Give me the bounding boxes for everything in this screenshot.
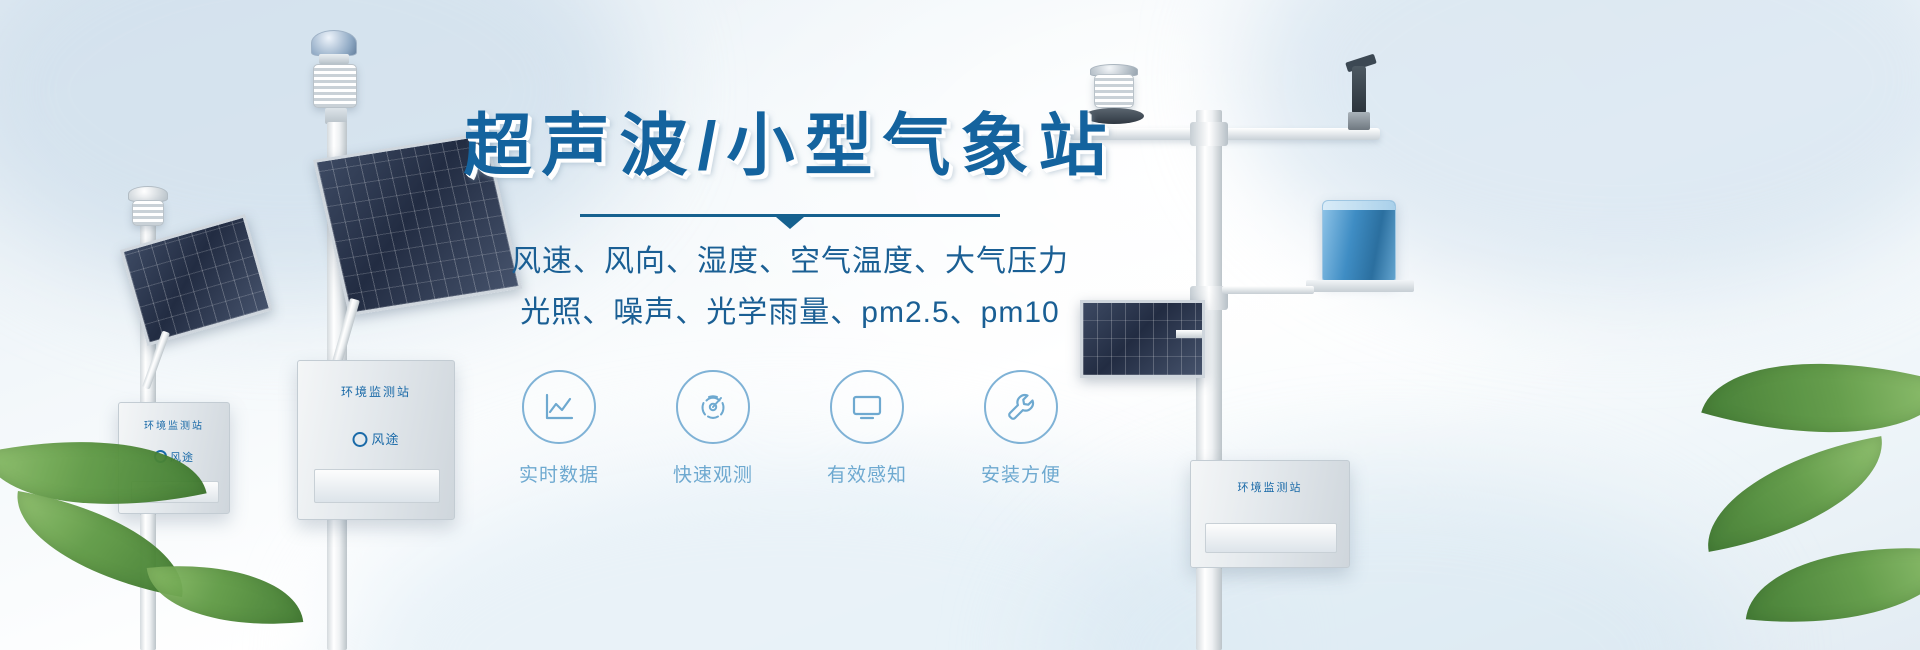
wrench-icon xyxy=(984,370,1058,444)
radar-observation-icon xyxy=(676,370,750,444)
monitor-icon xyxy=(830,370,904,444)
cabinet-label: 环境监测站 xyxy=(341,383,411,400)
rain-gauge xyxy=(1322,200,1396,282)
cabinet-vent xyxy=(1205,523,1337,553)
feature-label: 快速观测 xyxy=(657,460,769,487)
subtitle-line-2: 光照、噪声、光学雨量、pm2.5、pm10 xyxy=(440,290,1140,337)
radiation-shield xyxy=(313,64,357,108)
feature-item-realtime-data[interactable]: 实时数据 xyxy=(503,370,615,487)
ultrasonic-dome-sensor xyxy=(311,30,357,56)
shelf-arm xyxy=(1222,286,1314,294)
cabinet-vent xyxy=(314,469,440,503)
feature-item-easy-installation[interactable]: 安装方便 xyxy=(965,370,1077,487)
feature-item-fast-observation[interactable]: 快速观测 xyxy=(657,370,769,487)
leaf-decoration xyxy=(1701,320,1920,476)
subtitle-line-1: 风速、风向、湿度、空气温度、大气压力 xyxy=(440,239,1140,286)
rain-gauge-shelf xyxy=(1306,280,1414,292)
banner-content: 超声波/小型气象站 风速、风向、湿度、空气温度、大气压力 光照、噪声、光学雨量、… xyxy=(440,0,1140,650)
product-banner: 环境监测站 风途 环境监测站 风途 xyxy=(0,0,1920,650)
line-chart-icon xyxy=(522,370,596,444)
page-title: 超声波/小型气象站 xyxy=(440,112,1140,180)
sensor-neck xyxy=(319,54,349,64)
feature-item-effective-sensing[interactable]: 有效感知 xyxy=(811,370,923,487)
cabinet-label: 环境监测站 xyxy=(1238,479,1303,495)
feature-label: 实时数据 xyxy=(503,460,615,487)
feature-list: 实时数据 快速观测 xyxy=(440,370,1140,487)
wind-vane-body xyxy=(1352,66,1366,114)
cabinet-label: 环境监测站 xyxy=(144,417,204,432)
radiation-shield xyxy=(132,200,164,226)
cabinet-enclosure: 环境监测站 风途 xyxy=(297,360,455,520)
cabinet-brand: 风途 xyxy=(352,429,399,448)
mast-collar xyxy=(1190,122,1228,146)
subtitle-block: 风速、风向、湿度、空气温度、大气压力 光照、噪声、光学雨量、pm2.5、pm10 xyxy=(440,239,1140,336)
leaf-decoration xyxy=(1746,530,1920,640)
feature-label: 安装方便 xyxy=(965,460,1077,487)
leaf-decoration xyxy=(1694,436,1896,552)
wind-vane-mount xyxy=(1348,112,1370,130)
panel-arm xyxy=(1176,330,1202,338)
feature-label: 有效感知 xyxy=(811,460,923,487)
mast-lower xyxy=(1196,568,1222,650)
cabinet-enclosure: 环境监测站 xyxy=(1190,460,1350,568)
title-divider xyxy=(580,214,1000,217)
